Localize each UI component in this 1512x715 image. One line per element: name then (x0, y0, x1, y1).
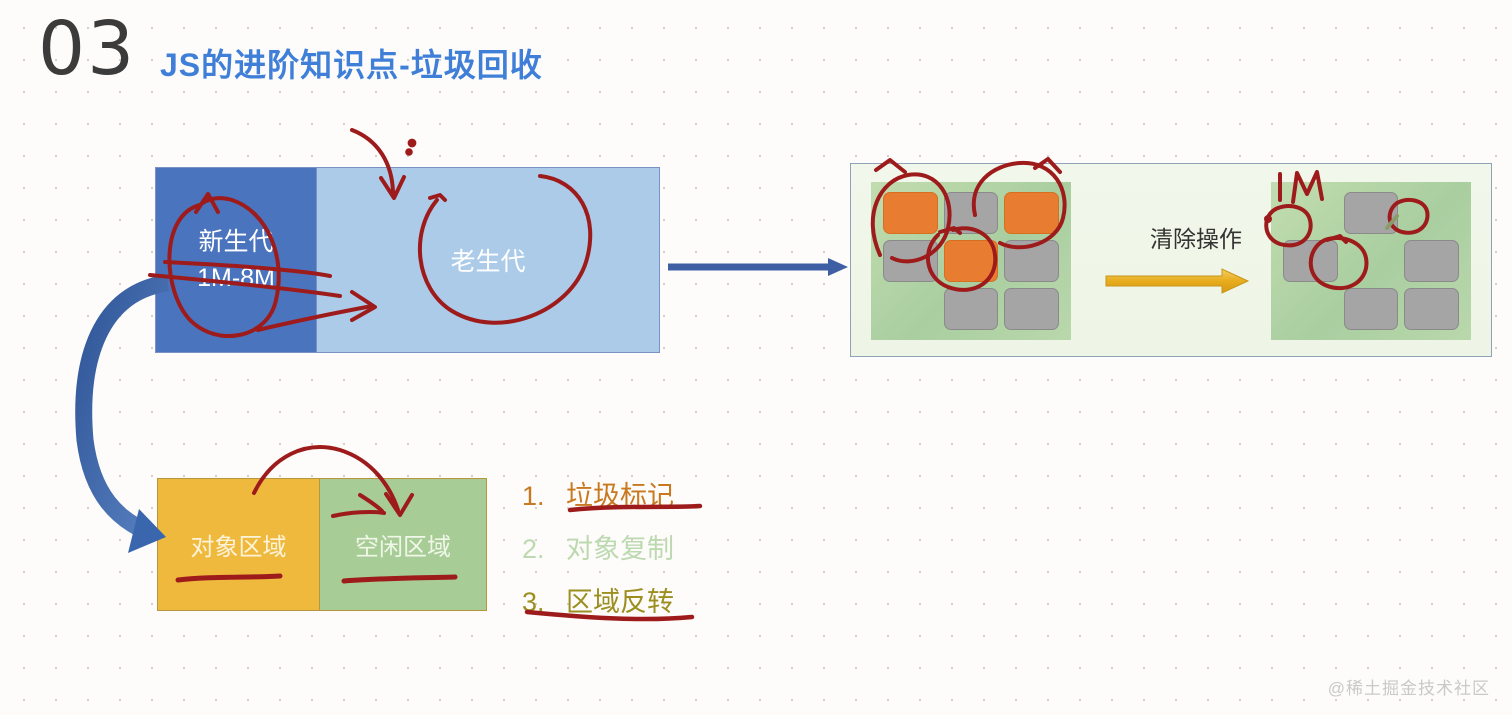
sweep-operation-label: 清除操作 (1121, 220, 1271, 254)
young-generation-label: 新生代 (198, 224, 273, 260)
heap-before-sweep (871, 182, 1071, 340)
heap-cell (1004, 192, 1059, 234)
old-generation-block: 老生代 (316, 168, 659, 352)
heap-after-sweep (1271, 182, 1471, 340)
heap-cell (1004, 288, 1059, 330)
list-item: 1. 垃圾标记 (522, 470, 782, 523)
heap-cell (1404, 192, 1459, 234)
blue-connector-arrow (668, 258, 848, 276)
step-number: 3. (522, 576, 566, 629)
heap-cell (944, 288, 999, 330)
young-generation-size: 1M-8M (197, 260, 275, 296)
heap-cell (1404, 288, 1459, 330)
heap-cell (1344, 240, 1399, 282)
list-item: 3. 区域反转 (522, 576, 782, 629)
heap-cell (1283, 192, 1338, 234)
heap-cell (1004, 240, 1059, 282)
sweep-arrow-icon (1104, 268, 1250, 294)
list-item: 2. 对象复制 (522, 523, 782, 576)
scavenge-areas-box: 对象区域 空闲区域 (157, 478, 487, 611)
object-area-label: 对象区域 (191, 527, 287, 562)
slide-number: 03 (38, 12, 136, 86)
object-area-block: 对象区域 (158, 479, 319, 610)
heap-cell (1283, 288, 1338, 330)
heap-cell (883, 288, 938, 330)
slide-canvas: 03 JS的进阶知识点-垃圾回收 新生代 1M-8M 老生代 清除操作 (0, 0, 1512, 715)
heap-cell (944, 240, 999, 282)
page-title: JS的进阶知识点-垃圾回收 (160, 48, 543, 82)
heap-cell (1344, 192, 1399, 234)
heap-cell (883, 240, 938, 282)
watermark: @稀土掘金技术社区 (1328, 674, 1490, 699)
step-label: 对象复制 (566, 523, 674, 576)
heap-cell (944, 192, 999, 234)
heap-cell (1404, 240, 1459, 282)
free-area-label: 空闲区域 (355, 527, 451, 562)
heap-cell (883, 192, 938, 234)
sweep-operation-panel: 清除操作 (850, 163, 1492, 357)
old-generation-label: 老生代 (450, 242, 525, 278)
heap-cell (1283, 240, 1338, 282)
step-number: 1. (522, 470, 566, 523)
step-label: 区域反转 (566, 576, 674, 629)
young-generation-block: 新生代 1M-8M (156, 168, 316, 352)
steps-list: 1. 垃圾标记 2. 对象复制 3. 区域反转 (522, 470, 782, 629)
step-label: 垃圾标记 (566, 470, 674, 523)
heap-cell (1344, 288, 1399, 330)
free-area-block: 空闲区域 (319, 479, 486, 610)
step-number: 2. (522, 523, 566, 576)
memory-generations-box: 新生代 1M-8M 老生代 (155, 167, 660, 353)
